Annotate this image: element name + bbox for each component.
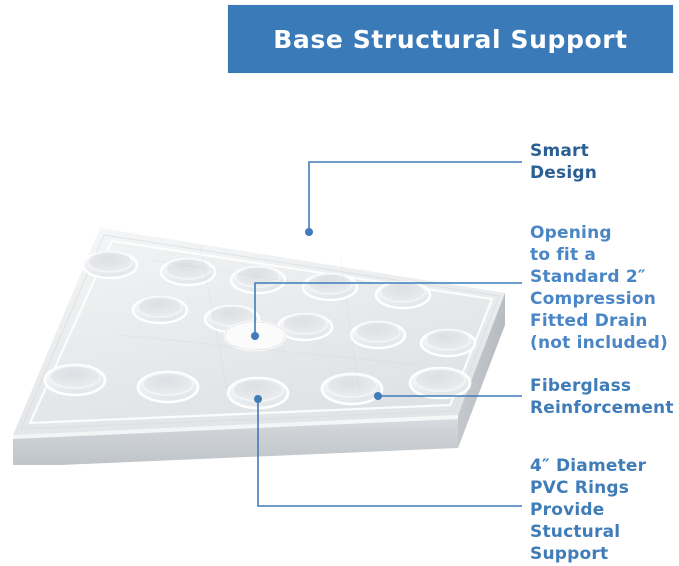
pvc-ring	[83, 252, 137, 278]
callout-pvc-rings: 4″ Diameter PVC Rings Provide Stuctural …	[530, 455, 646, 565]
header-banner: Base Structural Support	[228, 5, 673, 73]
pvc-ring	[351, 322, 405, 348]
pvc-ring	[138, 372, 198, 402]
pvc-ring	[322, 374, 382, 404]
pvc-ring	[410, 368, 470, 398]
callout-drain-opening: Opening to fit a Standard 2″ Compression…	[530, 222, 668, 355]
callout-fiberglass-reinforcement: Fiberglass Reinforcement	[530, 375, 674, 419]
infographic-root: Base Structural Support	[0, 0, 679, 566]
pvc-ring	[421, 330, 475, 356]
pvc-ring	[231, 267, 285, 293]
callout-smart-design: Smart Design	[530, 140, 597, 184]
page-title: Base Structural Support	[273, 25, 627, 54]
pvc-ring	[376, 282, 430, 308]
pvc-ring	[45, 365, 105, 395]
product-illustration	[0, 215, 530, 465]
drain-opening	[225, 322, 285, 350]
pvc-ring	[133, 297, 187, 323]
pvc-ring	[228, 378, 288, 408]
pvc-ring	[303, 274, 357, 300]
